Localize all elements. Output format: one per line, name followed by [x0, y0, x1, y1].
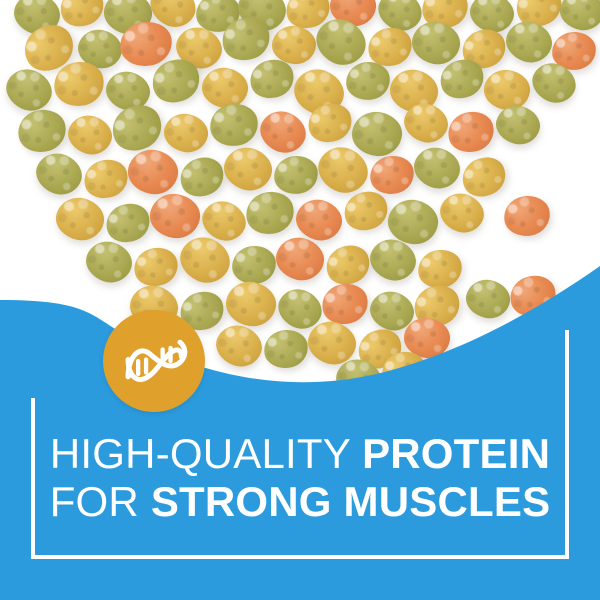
kibble-piece [501, 192, 553, 239]
kibble-piece [14, 105, 71, 157]
kibble-photo [0, 0, 600, 420]
kibble-piece [230, 243, 279, 287]
kibble-piece [211, 319, 268, 372]
kibble-piece [147, 191, 203, 242]
kibble-piece [443, 106, 498, 157]
kibble-piece [79, 154, 133, 204]
kibble-piece [223, 278, 280, 330]
headline: HIGH-QUALITY PROTEIN FOR STRONG MUSCLES [0, 432, 600, 523]
dna-badge [103, 310, 205, 412]
headline-line-2: FOR STRONG MUSCLES [0, 480, 600, 524]
kibble-piece [130, 243, 183, 292]
headline-line-2-bold: STRONG MUSCLES [151, 478, 550, 525]
kibble-piece [481, 67, 532, 113]
kibble-piece [409, 142, 465, 194]
product-feature-poster: HIGH-QUALITY PROTEIN FOR STRONG MUSCLES [0, 0, 600, 600]
headline-line-1: HIGH-QUALITY PROTEIN [0, 432, 600, 476]
kibble-piece [242, 187, 299, 239]
kibble-piece [81, 236, 137, 288]
kibble-piece [219, 142, 277, 196]
kibble-piece [63, 110, 117, 160]
kibble-piece [52, 193, 108, 244]
headline-line-2-light: FOR [50, 478, 151, 525]
kibble-piece [105, 97, 170, 159]
kibble-piece [161, 110, 212, 156]
headline-line-1-light: HIGH-QUALITY [50, 430, 362, 477]
kibble-piece [463, 276, 514, 322]
kibble-piece [557, 0, 600, 34]
kibble-piece [505, 270, 561, 322]
kibble-piece [350, 110, 404, 159]
dna-helix-icon [118, 325, 190, 397]
headline-line-1-bold: PROTEIN [362, 430, 550, 477]
kibble-piece [261, 326, 311, 371]
kibble-piece [272, 153, 321, 197]
kibble-piece [254, 104, 312, 159]
kibble-piece [207, 100, 262, 150]
kibble-piece [125, 146, 182, 198]
kibble-piece [30, 147, 88, 201]
